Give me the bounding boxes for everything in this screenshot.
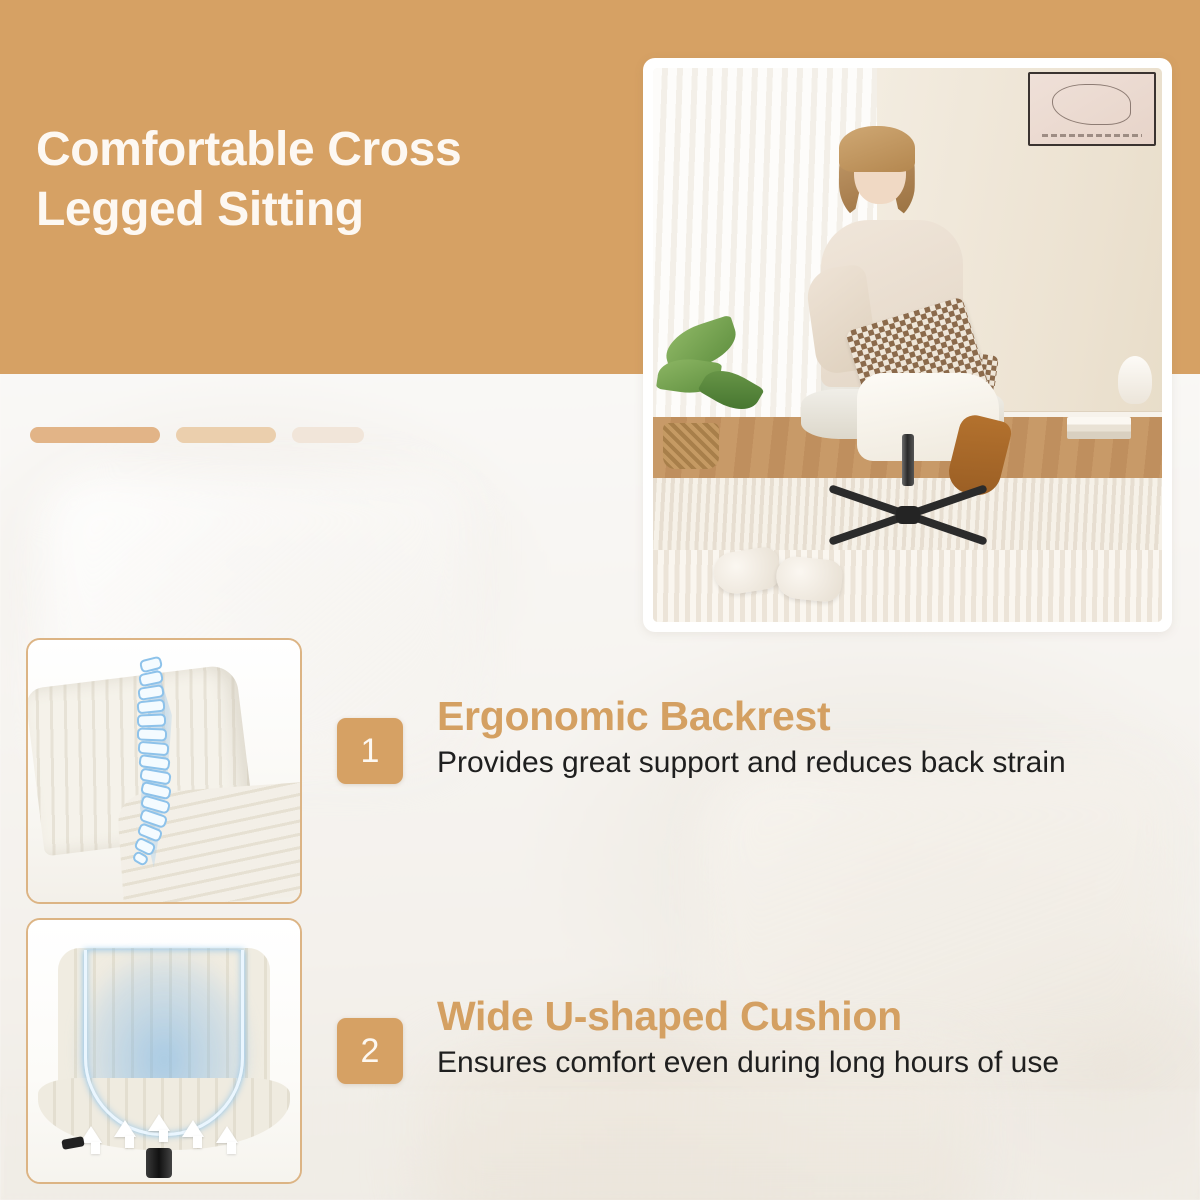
- feature-row-ergonomic-backrest: 1 Ergonomic Backrest Provides great supp…: [26, 638, 1127, 904]
- feature-title-1: Ergonomic Backrest: [437, 694, 1127, 738]
- up-arrow-icon: [148, 1114, 170, 1131]
- feature-title-2: Wide U-shaped Cushion: [437, 994, 1127, 1038]
- up-arrow-icon: [114, 1120, 136, 1137]
- up-arrow-stem: [193, 1136, 202, 1148]
- up-arrow-stem: [227, 1142, 236, 1154]
- wall-art-caption: [1042, 134, 1141, 137]
- wall-art-frame: [1028, 72, 1156, 146]
- feature-description-1: Provides great support and reduces back …: [437, 744, 1127, 782]
- feature-text-block-1: Ergonomic Backrest Provides great suppor…: [437, 694, 1127, 783]
- slipper: [774, 555, 844, 604]
- chair-base-hub: [896, 506, 920, 524]
- decorative-bars: [30, 427, 364, 443]
- feature-number-badge-2: 2: [337, 1018, 403, 1084]
- woven-basket: [663, 423, 719, 469]
- decorative-bar-2: [176, 427, 276, 443]
- up-arrow-stem: [159, 1130, 168, 1142]
- up-arrow-stem: [125, 1136, 134, 1148]
- page-title: Comfortable Cross Legged Sitting: [36, 120, 636, 241]
- feature-row-wide-u-shaped-cushion: 2 Wide U-shaped Cushion Ensures comfort …: [26, 918, 1127, 1184]
- up-arrow-icon: [216, 1126, 238, 1143]
- up-arrow-stem: [91, 1142, 100, 1154]
- feature-description-2: Ensures comfort even during long hours o…: [437, 1044, 1127, 1082]
- slippers: [714, 550, 854, 600]
- hero-image: [653, 68, 1162, 622]
- feature-thumbnail-cushion: [26, 918, 302, 1184]
- decorative-bar-3: [292, 427, 364, 443]
- decorative-bar-1: [30, 427, 160, 443]
- chair-gas-cylinder: [902, 434, 914, 486]
- hero-image-frame: [643, 58, 1172, 632]
- spine-illustration-icon: [132, 656, 174, 868]
- chair-gas-cylinder-top: [146, 1148, 172, 1178]
- u-shape-outline-icon: [84, 950, 244, 1136]
- infographic-page: Comfortable Cross Legged Sitting: [0, 0, 1200, 1200]
- feature-thumbnail-backrest: [26, 638, 302, 904]
- decorative-vase: [1118, 356, 1152, 404]
- stacked-books: [1067, 417, 1131, 439]
- person-hair-front: [839, 126, 915, 172]
- feature-number-badge-1: 1: [337, 718, 403, 784]
- slipper: [711, 545, 783, 597]
- feature-text-block-2: Wide U-shaped Cushion Ensures comfort ev…: [437, 994, 1127, 1083]
- up-arrow-icon: [182, 1120, 204, 1137]
